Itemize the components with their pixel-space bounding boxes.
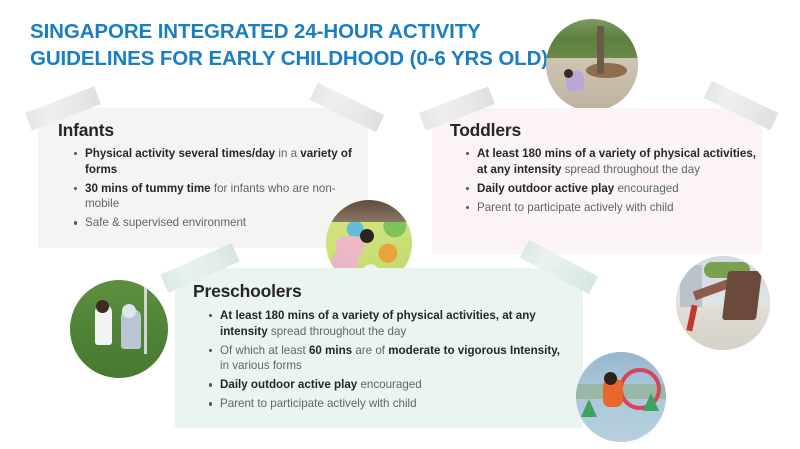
- climbing-frame: [722, 271, 762, 320]
- child-head: [604, 372, 617, 385]
- list-item: At least 180 mins of a variety of physic…: [466, 146, 758, 177]
- sand-play-photo: [546, 19, 638, 111]
- list-item: 30 mins of tummy time for infants who ar…: [74, 181, 352, 212]
- list-item: At least 180 mins of a variety of physic…: [209, 308, 569, 339]
- bullet-text: Of which at least: [220, 344, 309, 357]
- goal-pole: [144, 286, 147, 355]
- page-title-line-2: GUIDELINES FOR EARLY CHILDHOOD (0-6 YRS …: [30, 45, 575, 72]
- foliage-backdrop: [546, 19, 638, 61]
- bullet-text: encouraged: [614, 182, 678, 195]
- list-item: Daily outdoor active play encouraged: [466, 181, 758, 197]
- list-item: Of which at least 60 mins are of moderat…: [209, 343, 569, 374]
- card-preschoolers-bullets: At least 180 mins of a variety of physic…: [209, 308, 569, 416]
- playground-photo: [676, 256, 770, 350]
- adult-head: [122, 304, 136, 318]
- tree-trunk: [597, 26, 604, 74]
- page-title-line-1: SINGAPORE INTEGRATED 24-HOUR ACTIVITY: [30, 18, 575, 45]
- bullet-text: are of: [352, 344, 388, 357]
- infographic-canvas: SINGAPORE INTEGRATED 24-HOUR ACTIVITY GU…: [0, 0, 800, 449]
- card-toddlers-heading: Toddlers: [450, 120, 521, 141]
- card-toddlers: Toddlers At least 180 mins of a variety …: [432, 108, 762, 254]
- bullet-text: Parent to participate actively with chil…: [477, 201, 674, 214]
- grass-field: [70, 280, 168, 378]
- bullet-text: spread throughout the day: [268, 325, 407, 338]
- bullet-text: Parent to participate actively with chil…: [220, 397, 417, 410]
- bullet-text: in a: [275, 147, 300, 160]
- list-item: Safe & supervised environment: [74, 215, 352, 231]
- page-title: SINGAPORE INTEGRATED 24-HOUR ACTIVITY GU…: [30, 18, 575, 72]
- card-preschoolers-heading: Preschoolers: [193, 281, 302, 302]
- list-item: Daily outdoor active play encouraged: [209, 377, 569, 393]
- card-infants: Infants Physical activity several times/…: [38, 108, 368, 248]
- bullet-bold: 60 mins: [309, 344, 352, 357]
- list-item: Parent to participate actively with chil…: [209, 396, 569, 412]
- traffic-cone: [643, 393, 659, 411]
- card-preschoolers: Preschoolers At least 180 mins of a vari…: [175, 268, 583, 428]
- building: [680, 265, 702, 306]
- list-item: Parent to participate actively with chil…: [466, 200, 758, 216]
- bullet-text: encouraged: [357, 378, 421, 391]
- child-head: [96, 300, 109, 313]
- grass-kids-photo: [70, 280, 168, 378]
- hoop-activity-photo: [576, 352, 666, 442]
- bullet-text: Safe & supervised environment: [85, 216, 246, 229]
- bullet-text: spread throughout the day: [561, 163, 700, 176]
- card-infants-heading: Infants: [58, 120, 114, 141]
- card-infants-bullets: Physical activity several times/day in a…: [74, 146, 352, 234]
- traffic-cone: [581, 399, 597, 417]
- mulch-bed: [586, 63, 626, 78]
- list-item: Physical activity several times/day in a…: [74, 146, 352, 177]
- card-toddlers-bullets: At least 180 mins of a variety of physic…: [466, 146, 758, 219]
- bullet-bold: 30 mins of tummy time: [85, 182, 211, 195]
- bullet-bold: Physical activity several times/day: [85, 147, 275, 160]
- bullet-text: in various forms: [220, 359, 302, 372]
- background-shade: [326, 200, 412, 222]
- bullet-bold: moderate to vigorous Intensity,: [388, 344, 560, 357]
- bullet-bold: Daily outdoor active play: [477, 182, 614, 195]
- bullet-bold: Daily outdoor active play: [220, 378, 357, 391]
